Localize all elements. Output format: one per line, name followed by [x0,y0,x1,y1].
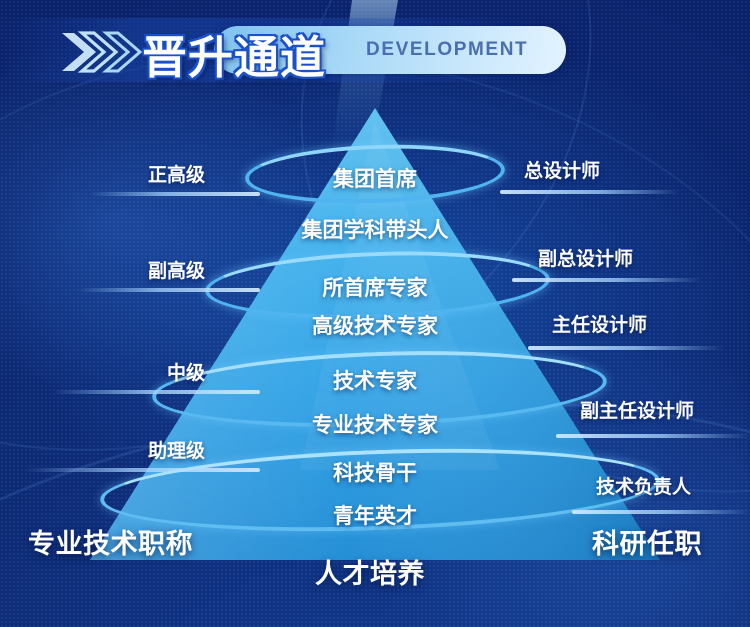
right-level-divider-1 [500,190,680,194]
right-level-label-1: 总设计师 [524,156,600,183]
right-level-divider-5 [572,510,750,514]
pyramid-tier-7: 科技骨干 [225,457,525,487]
right-level-divider-2 [512,278,702,282]
right-level-label-3: 主任设计师 [552,310,647,337]
footer-caption-center: 人才培养 [315,552,425,591]
pyramid-tier-6: 专业技术专家 [225,409,525,439]
header-title-cn: 晋升通道 [142,21,326,86]
header-title-en: DEVELOPMENT [366,39,566,61]
left-level-label-4: 助理级 [148,436,205,463]
left-level-divider-2 [78,288,260,292]
footer-caption-right: 科研任职 [592,522,702,561]
pyramid-tier-4: 高级技术专家 [225,310,525,340]
left-level-divider-1 [90,192,260,196]
right-level-divider-4 [556,434,750,438]
left-level-divider-3 [52,390,260,394]
left-level-label-3: 中级 [167,358,205,385]
double-chevron-icon [60,29,142,75]
promotion-path-infographic: 晋升通道 DEVELOPMENT 集团首席集团学科带头人所首席专家高级技术专家技… [0,0,750,627]
footer-caption-left: 专业技术职称 [28,522,193,561]
pyramid-tier-2: 集团学科带头人 [225,214,525,244]
left-level-label-2: 副高级 [148,256,205,283]
left-level-divider-4 [26,468,260,472]
left-level-label-1: 正高级 [148,160,205,187]
right-level-label-4: 副主任设计师 [580,396,694,423]
right-level-label-2: 副总设计师 [538,244,633,271]
header: 晋升通道 DEVELOPMENT [0,0,750,100]
pyramid-tier-1: 集团首席 [225,163,525,193]
pyramid-tier-8: 青年英才 [225,500,525,530]
right-level-divider-3 [528,346,724,350]
right-level-label-5: 技术负责人 [596,472,691,499]
pyramid-tier-3: 所首席专家 [225,272,525,302]
pyramid-tier-5: 技术专家 [225,365,525,395]
